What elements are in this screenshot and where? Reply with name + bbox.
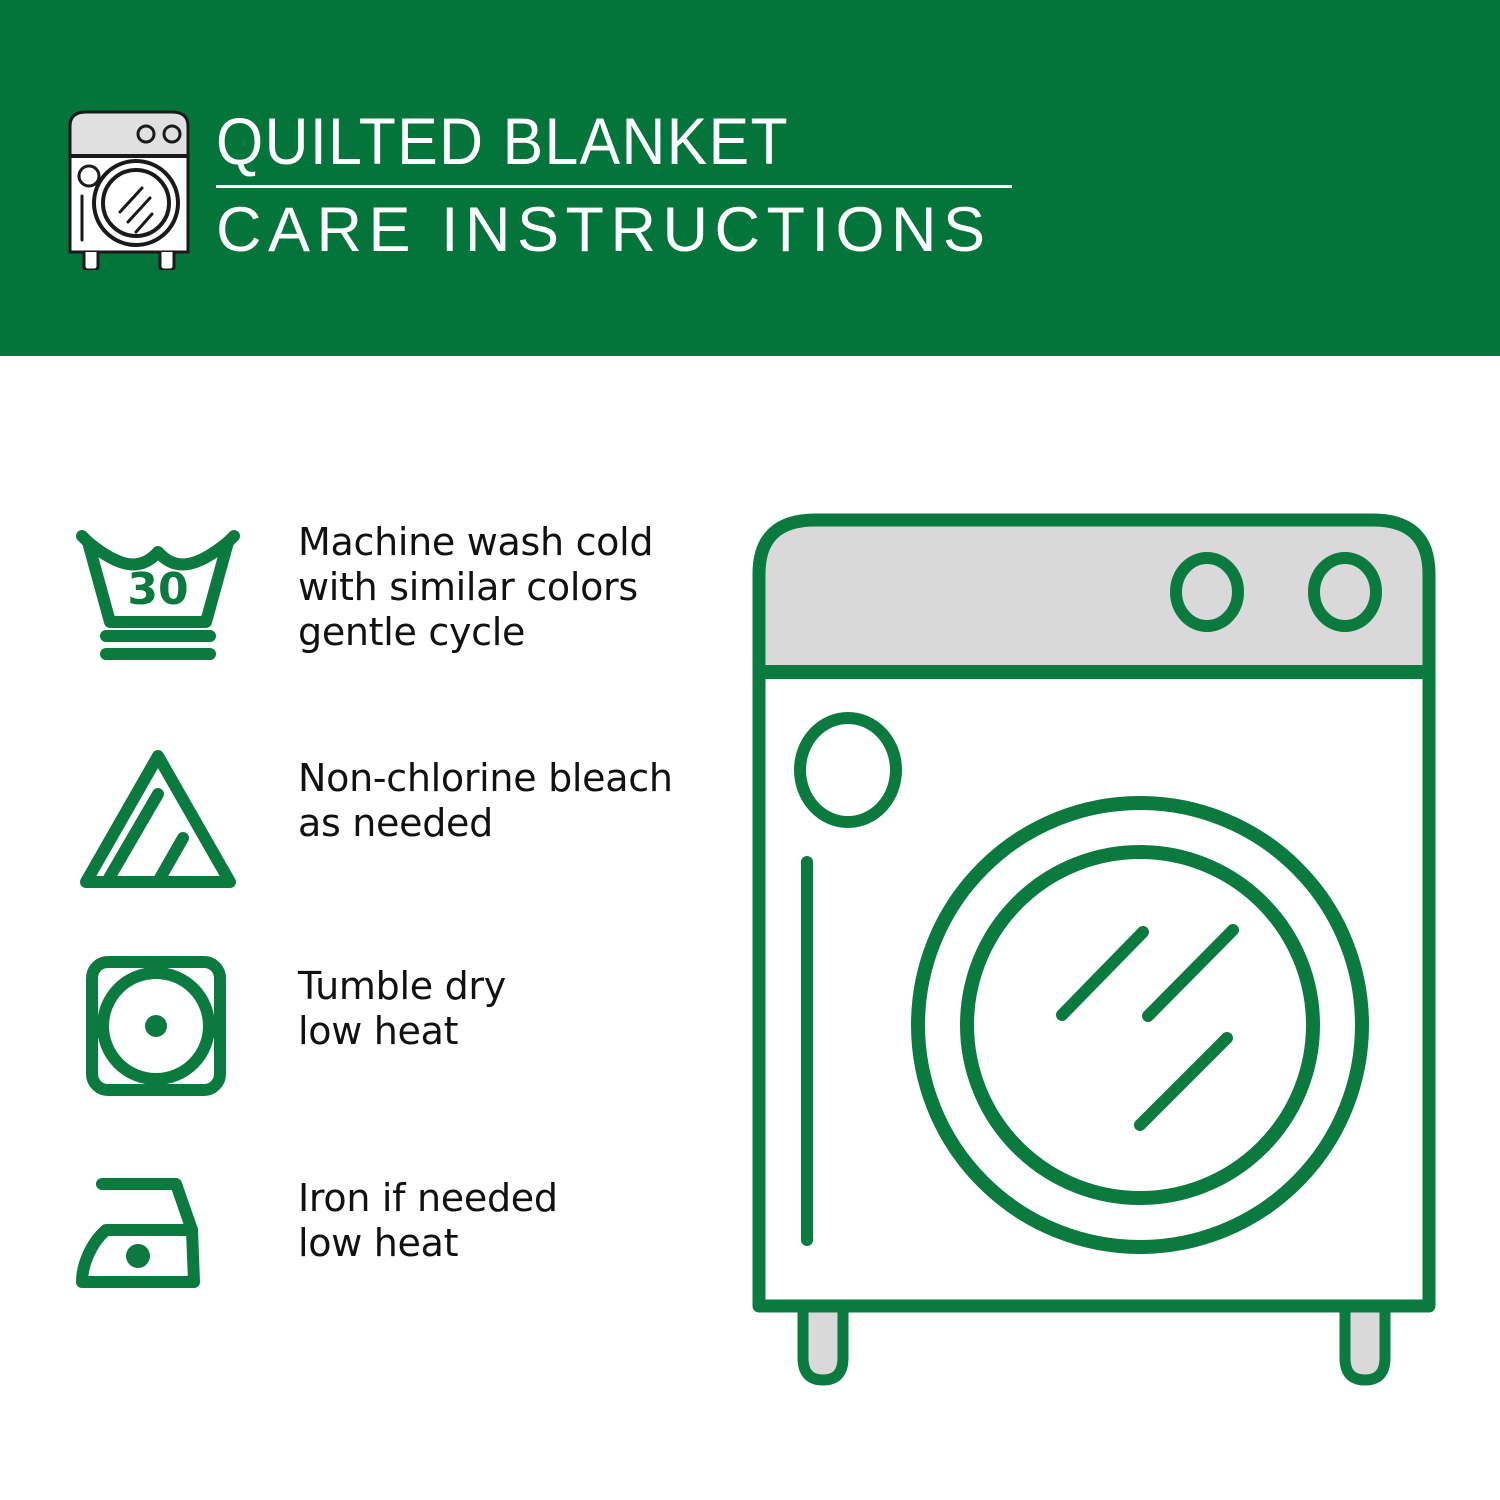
page-subtitle: CARE INSTRUCTIONS	[216, 194, 1016, 266]
list-item-line: as needed	[298, 801, 673, 846]
care-instructions-infographic: QUILTED BLANKET CARE INSTRUCTIONS 3	[0, 0, 1500, 1500]
iron-low-heat-icon	[70, 1148, 245, 1326]
list-item-text: Iron if needed low heat	[245, 1148, 558, 1266]
care-instruction-list: 30 Machine wash cold with similar colors…	[70, 512, 710, 1360]
list-item-line: low heat	[298, 1009, 506, 1054]
list-item: Iron if needed low heat	[70, 1148, 710, 1360]
title-divider	[216, 185, 1012, 188]
tumble-dry-low-heat-icon	[70, 936, 245, 1106]
list-item-line: with similar colors	[298, 565, 653, 610]
list-item: 30 Machine wash cold with similar colors…	[70, 512, 710, 724]
list-item-text: Non-chlorine bleach as needed	[245, 724, 673, 846]
list-item-line: Iron if needed	[298, 1176, 558, 1221]
list-item: Tumble dry low heat	[70, 936, 710, 1148]
list-item: Non-chlorine bleach as needed	[70, 724, 710, 936]
list-item-line: Tumble dry	[298, 964, 506, 1009]
header-banner: QUILTED BLANKET CARE INSTRUCTIONS	[0, 0, 1500, 356]
non-chlorine-bleach-triangle-icon	[70, 724, 245, 902]
page-title: QUILTED BLANKET	[216, 104, 952, 178]
list-item-line: Non-chlorine bleach	[298, 756, 673, 801]
wash-tub-30-gentle-icon: 30	[70, 512, 245, 672]
header-title-group: QUILTED BLANKET CARE INSTRUCTIONS	[216, 104, 1016, 264]
front-load-washing-machine-illustration	[745, 500, 1455, 1420]
list-item-line: low heat	[298, 1221, 558, 1266]
list-item-text: Tumble dry low heat	[245, 936, 506, 1054]
wash-temperature-value: 30	[127, 564, 188, 615]
washing-machine-icon	[62, 104, 202, 270]
list-item-text: Machine wash cold with similar colors ge…	[245, 512, 653, 655]
list-item-line: Machine wash cold	[298, 520, 653, 565]
list-item-line: gentle cycle	[298, 610, 653, 655]
